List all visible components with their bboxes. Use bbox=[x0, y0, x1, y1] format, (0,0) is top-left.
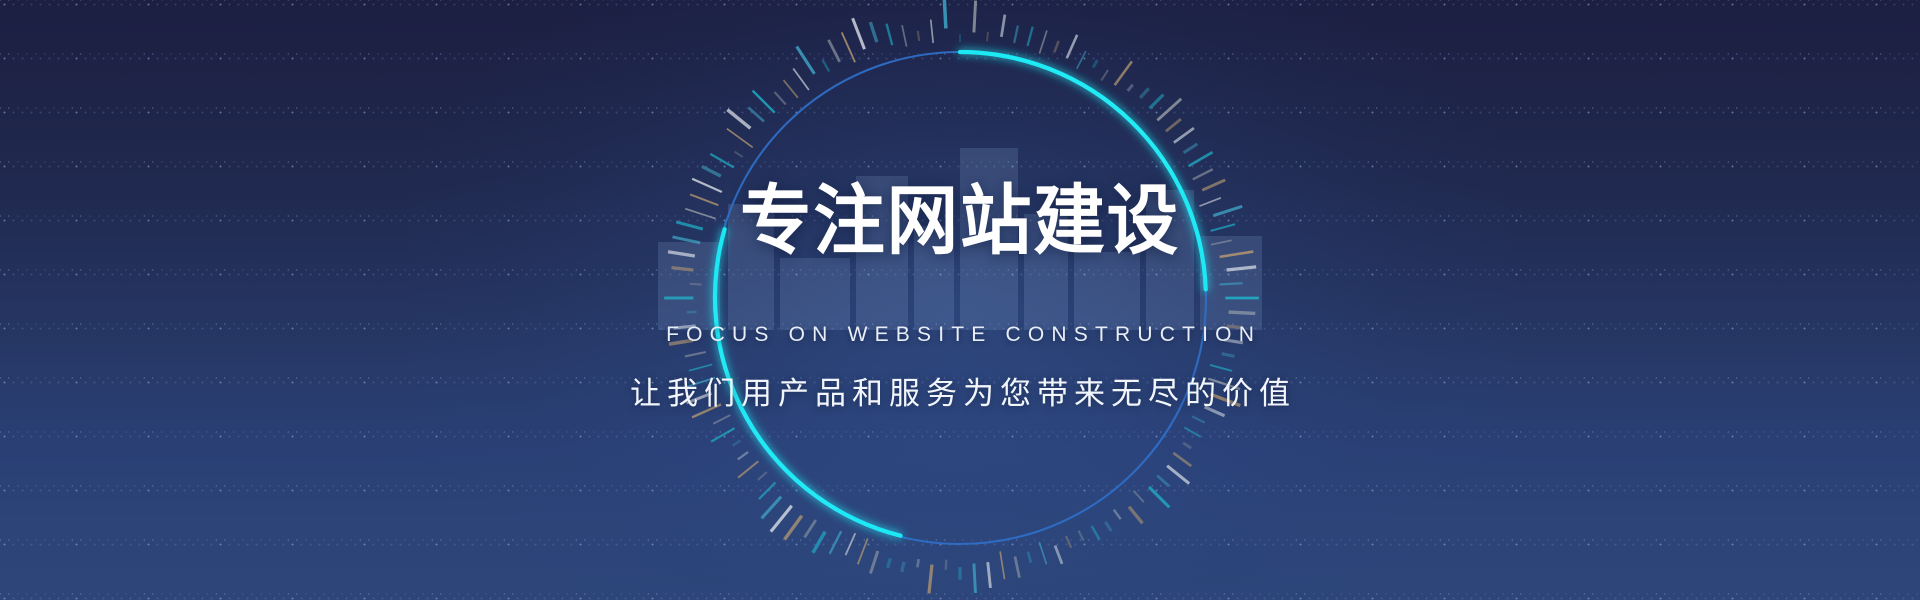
tick-mark bbox=[974, 564, 976, 593]
tick-mark bbox=[1210, 365, 1232, 371]
tick-mark bbox=[1229, 312, 1256, 313]
tick-mark bbox=[733, 441, 741, 446]
tick-mark bbox=[784, 516, 801, 540]
tick-mark bbox=[1157, 476, 1169, 487]
tick-mark bbox=[870, 22, 876, 42]
tick-mark bbox=[1149, 487, 1169, 507]
tick-mark bbox=[1184, 144, 1198, 153]
tick-mark bbox=[829, 40, 840, 62]
tick-mark bbox=[1028, 552, 1031, 563]
page-title: 专注网站建设 bbox=[58, 184, 1863, 260]
dot-grid-rows-icon bbox=[0, 0, 1920, 600]
tick-mark bbox=[713, 415, 730, 424]
tick-mark bbox=[1140, 88, 1149, 98]
tick-mark bbox=[1224, 340, 1243, 343]
tick-mark bbox=[858, 538, 868, 564]
tick-mark bbox=[710, 154, 734, 168]
tick-mark bbox=[813, 532, 825, 553]
tick-mark bbox=[870, 551, 877, 573]
dot-grid-icon bbox=[0, 0, 1920, 600]
tick-mark bbox=[1220, 252, 1254, 257]
tick-mark bbox=[1039, 542, 1046, 564]
tick-mark bbox=[702, 166, 721, 176]
tick-mark bbox=[738, 461, 758, 477]
tick-mark bbox=[917, 559, 918, 567]
tick-mark bbox=[669, 340, 693, 344]
tick-mark bbox=[830, 531, 842, 554]
tick-mark bbox=[690, 194, 718, 205]
tick-mark bbox=[1079, 531, 1084, 541]
tick-mark bbox=[1227, 267, 1257, 270]
tick-mark bbox=[1211, 240, 1232, 244]
city-skyline-icon bbox=[640, 130, 1280, 330]
tick-mark bbox=[672, 268, 694, 270]
tick-mark bbox=[902, 562, 904, 572]
tick-mark bbox=[931, 20, 933, 43]
tick-mark bbox=[774, 92, 785, 105]
tick-mark bbox=[1192, 416, 1205, 422]
tick-mark bbox=[759, 482, 776, 499]
tick-mark bbox=[1014, 26, 1018, 43]
tick-mark bbox=[1092, 526, 1100, 540]
dial-ring-icon bbox=[610, 0, 1310, 600]
tick-mark bbox=[1015, 557, 1020, 578]
tick-mark bbox=[1115, 61, 1132, 85]
tick-mark bbox=[1105, 522, 1111, 531]
tick-mark bbox=[1114, 510, 1121, 519]
tick-mark bbox=[1101, 70, 1108, 81]
tick-mark bbox=[946, 560, 947, 570]
tick-mark bbox=[1157, 99, 1181, 120]
tick-mark bbox=[974, 1, 976, 33]
tick-mark bbox=[929, 565, 932, 594]
tick-mark bbox=[988, 562, 991, 588]
tick-mark bbox=[1188, 152, 1212, 166]
tick-mark bbox=[1199, 198, 1221, 206]
tick-mark bbox=[685, 352, 706, 356]
tick-mark bbox=[1150, 95, 1164, 109]
tick-mark bbox=[1226, 326, 1241, 328]
tick-mark bbox=[846, 533, 856, 555]
tick-mark bbox=[1128, 85, 1133, 91]
tick-mark bbox=[793, 68, 809, 90]
tick-mark bbox=[727, 129, 753, 148]
tick-mark bbox=[1210, 394, 1240, 405]
tick-mark bbox=[668, 252, 695, 256]
tick-mark bbox=[735, 152, 743, 157]
tick-mark bbox=[888, 558, 891, 568]
tick-mark bbox=[1220, 283, 1243, 284]
tick-mark bbox=[1093, 60, 1097, 68]
tick-mark bbox=[1173, 453, 1191, 466]
tick-mark bbox=[685, 378, 715, 388]
tick-mark bbox=[1039, 30, 1047, 53]
tick-mark bbox=[690, 284, 702, 285]
tick-mark bbox=[887, 24, 893, 45]
tick-mark bbox=[805, 520, 816, 537]
hero-banner: 专注网站建设 FOCUS ON WEBSITE CONSTRUCTION 让我们… bbox=[0, 0, 1920, 600]
tick-mark bbox=[748, 108, 764, 122]
tick-mark bbox=[1222, 354, 1235, 357]
tick-mark bbox=[1193, 169, 1213, 179]
tick-mark bbox=[902, 25, 907, 46]
tick-mark bbox=[918, 31, 920, 41]
tick-mark bbox=[711, 428, 734, 442]
tick-mark bbox=[784, 80, 798, 98]
tick-mark bbox=[1208, 379, 1240, 389]
tick-mark bbox=[1134, 491, 1144, 502]
tick-mark bbox=[797, 47, 815, 74]
tick-mark bbox=[1213, 206, 1242, 215]
tick-mark bbox=[1205, 407, 1225, 416]
radial-ticks-icon bbox=[664, 0, 1259, 593]
tick-mark bbox=[1054, 41, 1058, 52]
tick-mark bbox=[1055, 546, 1062, 564]
tick-mark bbox=[1129, 507, 1142, 524]
tick-mark bbox=[842, 32, 855, 62]
tick-mark bbox=[1067, 35, 1077, 58]
tick-mark bbox=[738, 452, 748, 460]
tick-mark bbox=[689, 364, 712, 370]
tick-mark bbox=[687, 312, 697, 313]
tick-mark bbox=[822, 60, 829, 72]
tick-mark bbox=[1167, 466, 1189, 484]
tick-mark bbox=[758, 472, 767, 480]
tick-mark bbox=[1211, 224, 1236, 231]
tick-mark bbox=[673, 237, 701, 243]
center-glow bbox=[410, 0, 1510, 600]
tick-mark bbox=[727, 110, 750, 129]
tick-mark bbox=[1077, 51, 1086, 69]
tick-mark bbox=[771, 506, 792, 532]
tick-mark bbox=[1184, 428, 1200, 437]
tick-mark bbox=[685, 209, 716, 219]
tick-mark bbox=[692, 179, 722, 192]
tick-mark bbox=[673, 326, 695, 328]
tick-mark bbox=[1066, 536, 1071, 548]
tick-mark bbox=[853, 18, 865, 49]
tick-mark bbox=[753, 91, 775, 113]
tick-mark bbox=[1000, 551, 1004, 579]
tick-mark bbox=[762, 497, 781, 519]
tick-mark bbox=[1183, 443, 1191, 448]
tick-mark bbox=[676, 222, 703, 229]
tick-mark bbox=[987, 32, 988, 41]
banner-tagline-cn: 让我们用产品和服务为您带来无尽的价值 bbox=[0, 378, 1920, 409]
banner-subtitle-en: FOCUS ON WEBSITE CONSTRUCTION bbox=[0, 324, 1920, 345]
tick-mark bbox=[1202, 180, 1225, 190]
tick-mark bbox=[944, 0, 946, 28]
tick-mark bbox=[1028, 27, 1033, 46]
tick-mark bbox=[1174, 128, 1194, 143]
tick-mark bbox=[692, 404, 721, 417]
tick-mark bbox=[1166, 119, 1181, 131]
tick-mark bbox=[687, 393, 712, 403]
tick-mark bbox=[1001, 15, 1005, 37]
